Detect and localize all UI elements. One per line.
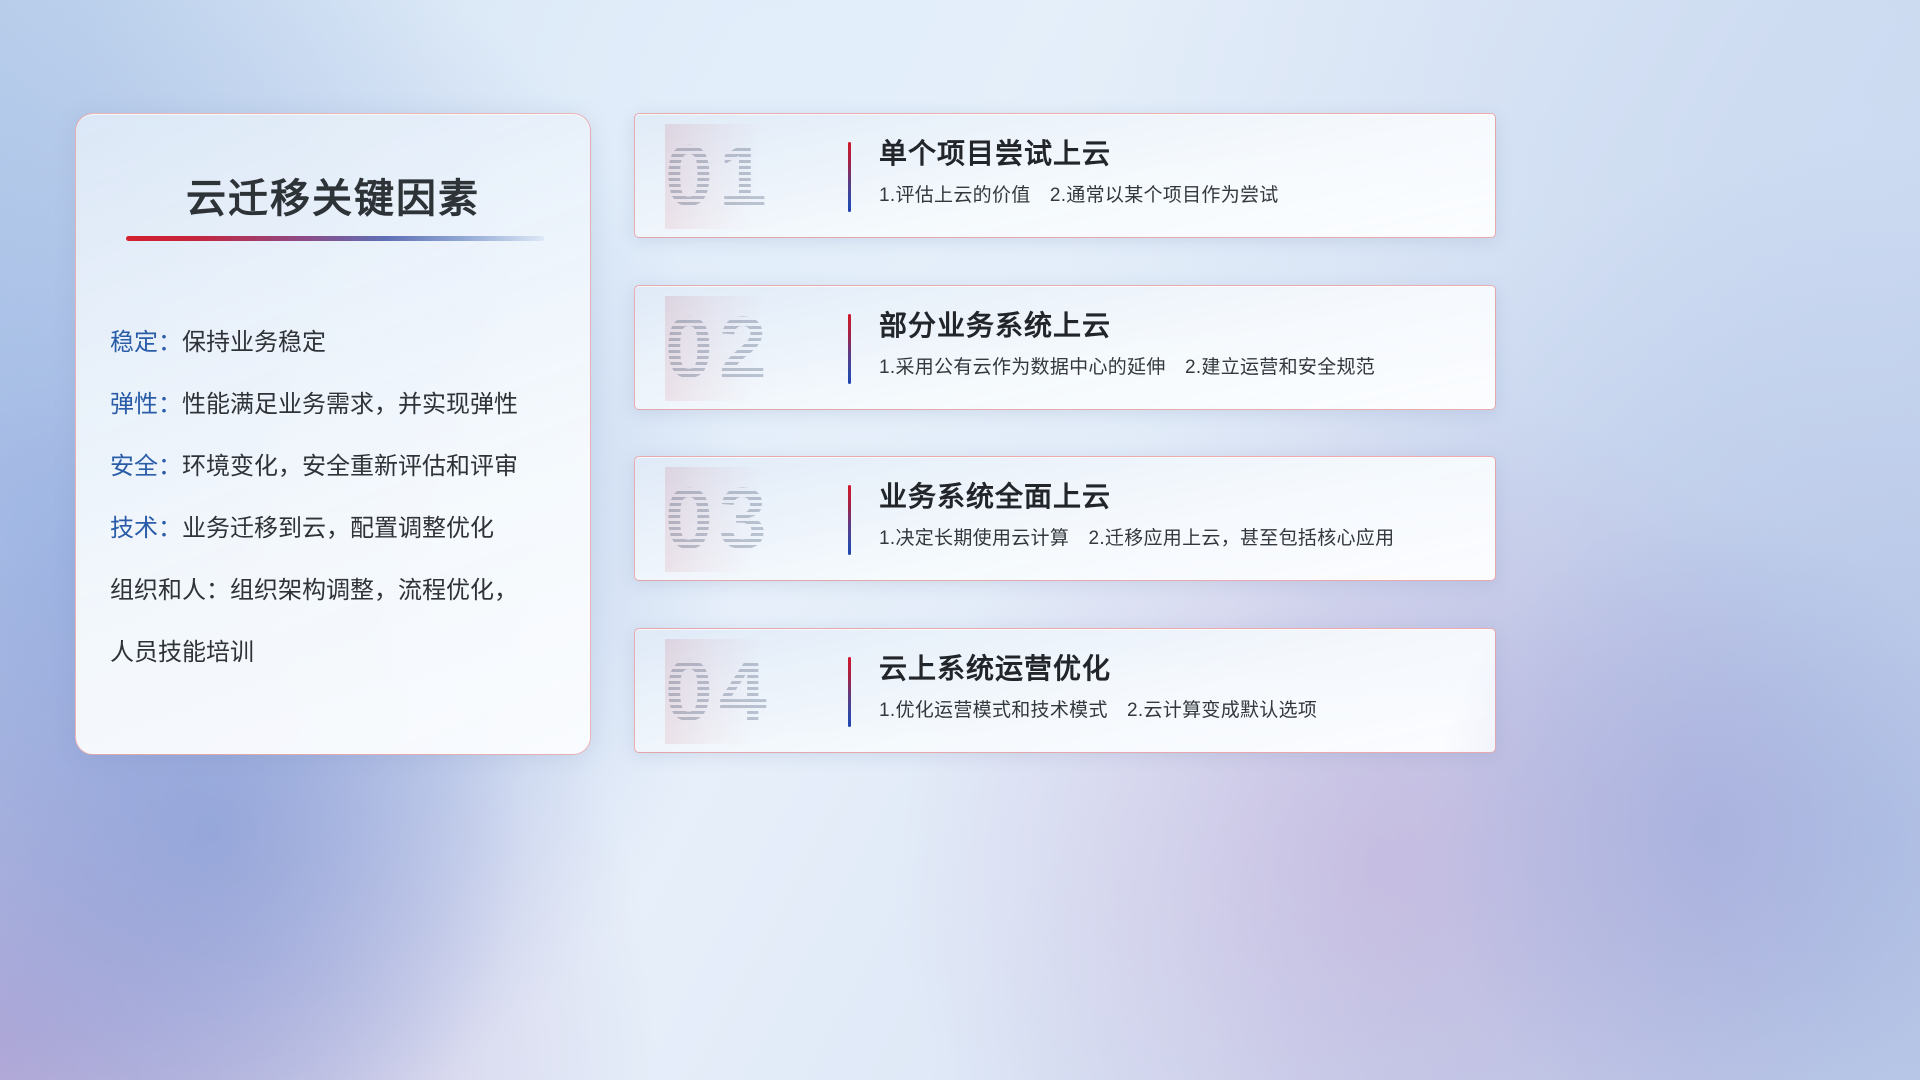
key-factors-panel: 云迁移关键因素 稳定：保持业务稳定 弹性：性能满足业务需求，并实现弹性 安全：环… xyxy=(75,113,591,755)
step-subtitle: 1.决定长期使用云计算 2.迁移应用上云，甚至包括核心应用 xyxy=(879,526,1477,552)
step-divider-bar xyxy=(848,657,851,727)
list-item-text: 人员技能培训 xyxy=(110,639,254,666)
step-subtitle: 1.优化运营模式和技术模式 2.云计算变成默认选项 xyxy=(879,698,1477,724)
step-subtitle: 1.采用公有云作为数据中心的延伸 2.建立运营和安全规范 xyxy=(879,355,1477,381)
step-number-tint xyxy=(665,296,833,401)
step-number-watermark: 03 xyxy=(665,467,833,572)
step-divider-bar xyxy=(848,142,851,212)
step-text-block: 单个项目尝试上云 1.评估上云的价值 2.通常以某个项目作为尝试 xyxy=(879,134,1477,209)
step-title: 部分业务系统上云 xyxy=(879,306,1477,346)
list-item-text: 环境变化，安全重新评估和评审 xyxy=(182,453,518,480)
list-item-key: 弹性： xyxy=(110,391,182,418)
step-text-block: 业务系统全面上云 1.决定长期使用云计算 2.迁移应用上云，甚至包括核心应用 xyxy=(879,477,1477,552)
title-underline-rule xyxy=(126,236,544,241)
step-card-01[interactable]: 01 单个项目尝试上云 1.评估上云的价值 2.通常以某个项目作为尝试 xyxy=(634,113,1496,238)
step-number-text: 02 xyxy=(665,296,833,401)
list-item-continuation: 人员技能培训 xyxy=(110,622,562,684)
step-divider-bar xyxy=(848,314,851,384)
step-divider-bar xyxy=(848,485,851,555)
step-subtitle: 1.评估上云的价值 2.通常以某个项目作为尝试 xyxy=(879,183,1477,209)
step-text-block: 部分业务系统上云 1.采用公有云作为数据中心的延伸 2.建立运营和安全规范 xyxy=(879,306,1477,381)
list-item-text: 业务迁移到云，配置调整优化 xyxy=(182,515,494,542)
list-item-text: 保持业务稳定 xyxy=(182,329,326,356)
list-item: 组织和人：组织架构调整，流程优化， xyxy=(110,560,562,622)
list-item-key: 技术： xyxy=(110,515,182,542)
panel-title: 云迁移关键因素 xyxy=(76,166,590,224)
list-item-text: 组织架构调整，流程优化， xyxy=(230,577,518,604)
list-item: 稳定：保持业务稳定 xyxy=(110,312,562,374)
step-card-04[interactable]: 04 云上系统运营优化 1.优化运营模式和技术模式 2.云计算变成默认选项 xyxy=(634,628,1496,753)
step-text-block: 云上系统运营优化 1.优化运营模式和技术模式 2.云计算变成默认选项 xyxy=(879,649,1477,724)
list-item: 弹性：性能满足业务需求，并实现弹性 xyxy=(110,374,562,436)
step-card-02[interactable]: 02 部分业务系统上云 1.采用公有云作为数据中心的延伸 2.建立运营和安全规范 xyxy=(634,285,1496,410)
slide-canvas: 云迁移关键因素 稳定：保持业务稳定 弹性：性能满足业务需求，并实现弹性 安全：环… xyxy=(0,0,1920,1080)
step-title: 云上系统运营优化 xyxy=(879,649,1477,689)
step-number-watermark: 02 xyxy=(665,296,833,401)
list-item-text: 性能满足业务需求，并实现弹性 xyxy=(182,391,518,418)
step-number-text: 03 xyxy=(665,467,833,572)
step-title: 业务系统全面上云 xyxy=(879,477,1477,517)
list-item-key: 稳定： xyxy=(110,329,182,356)
step-number-tint xyxy=(665,639,833,744)
list-item-key: 安全： xyxy=(110,453,182,480)
step-number-text: 01 xyxy=(665,124,833,229)
list-item: 技术：业务迁移到云，配置调整优化 xyxy=(110,498,562,560)
step-number-tint xyxy=(665,124,833,229)
step-number-watermark: 04 xyxy=(665,639,833,744)
step-number-tint xyxy=(665,467,833,572)
step-number-text: 04 xyxy=(665,639,833,744)
step-title: 单个项目尝试上云 xyxy=(879,134,1477,174)
list-item: 安全：环境变化，安全重新评估和评审 xyxy=(110,436,562,498)
key-factors-list: 稳定：保持业务稳定 弹性：性能满足业务需求，并实现弹性 安全：环境变化，安全重新… xyxy=(110,312,562,684)
list-item-key: 组织和人： xyxy=(110,577,230,604)
step-card-03[interactable]: 03 业务系统全面上云 1.决定长期使用云计算 2.迁移应用上云，甚至包括核心应… xyxy=(634,456,1496,581)
step-number-watermark: 01 xyxy=(665,124,833,229)
